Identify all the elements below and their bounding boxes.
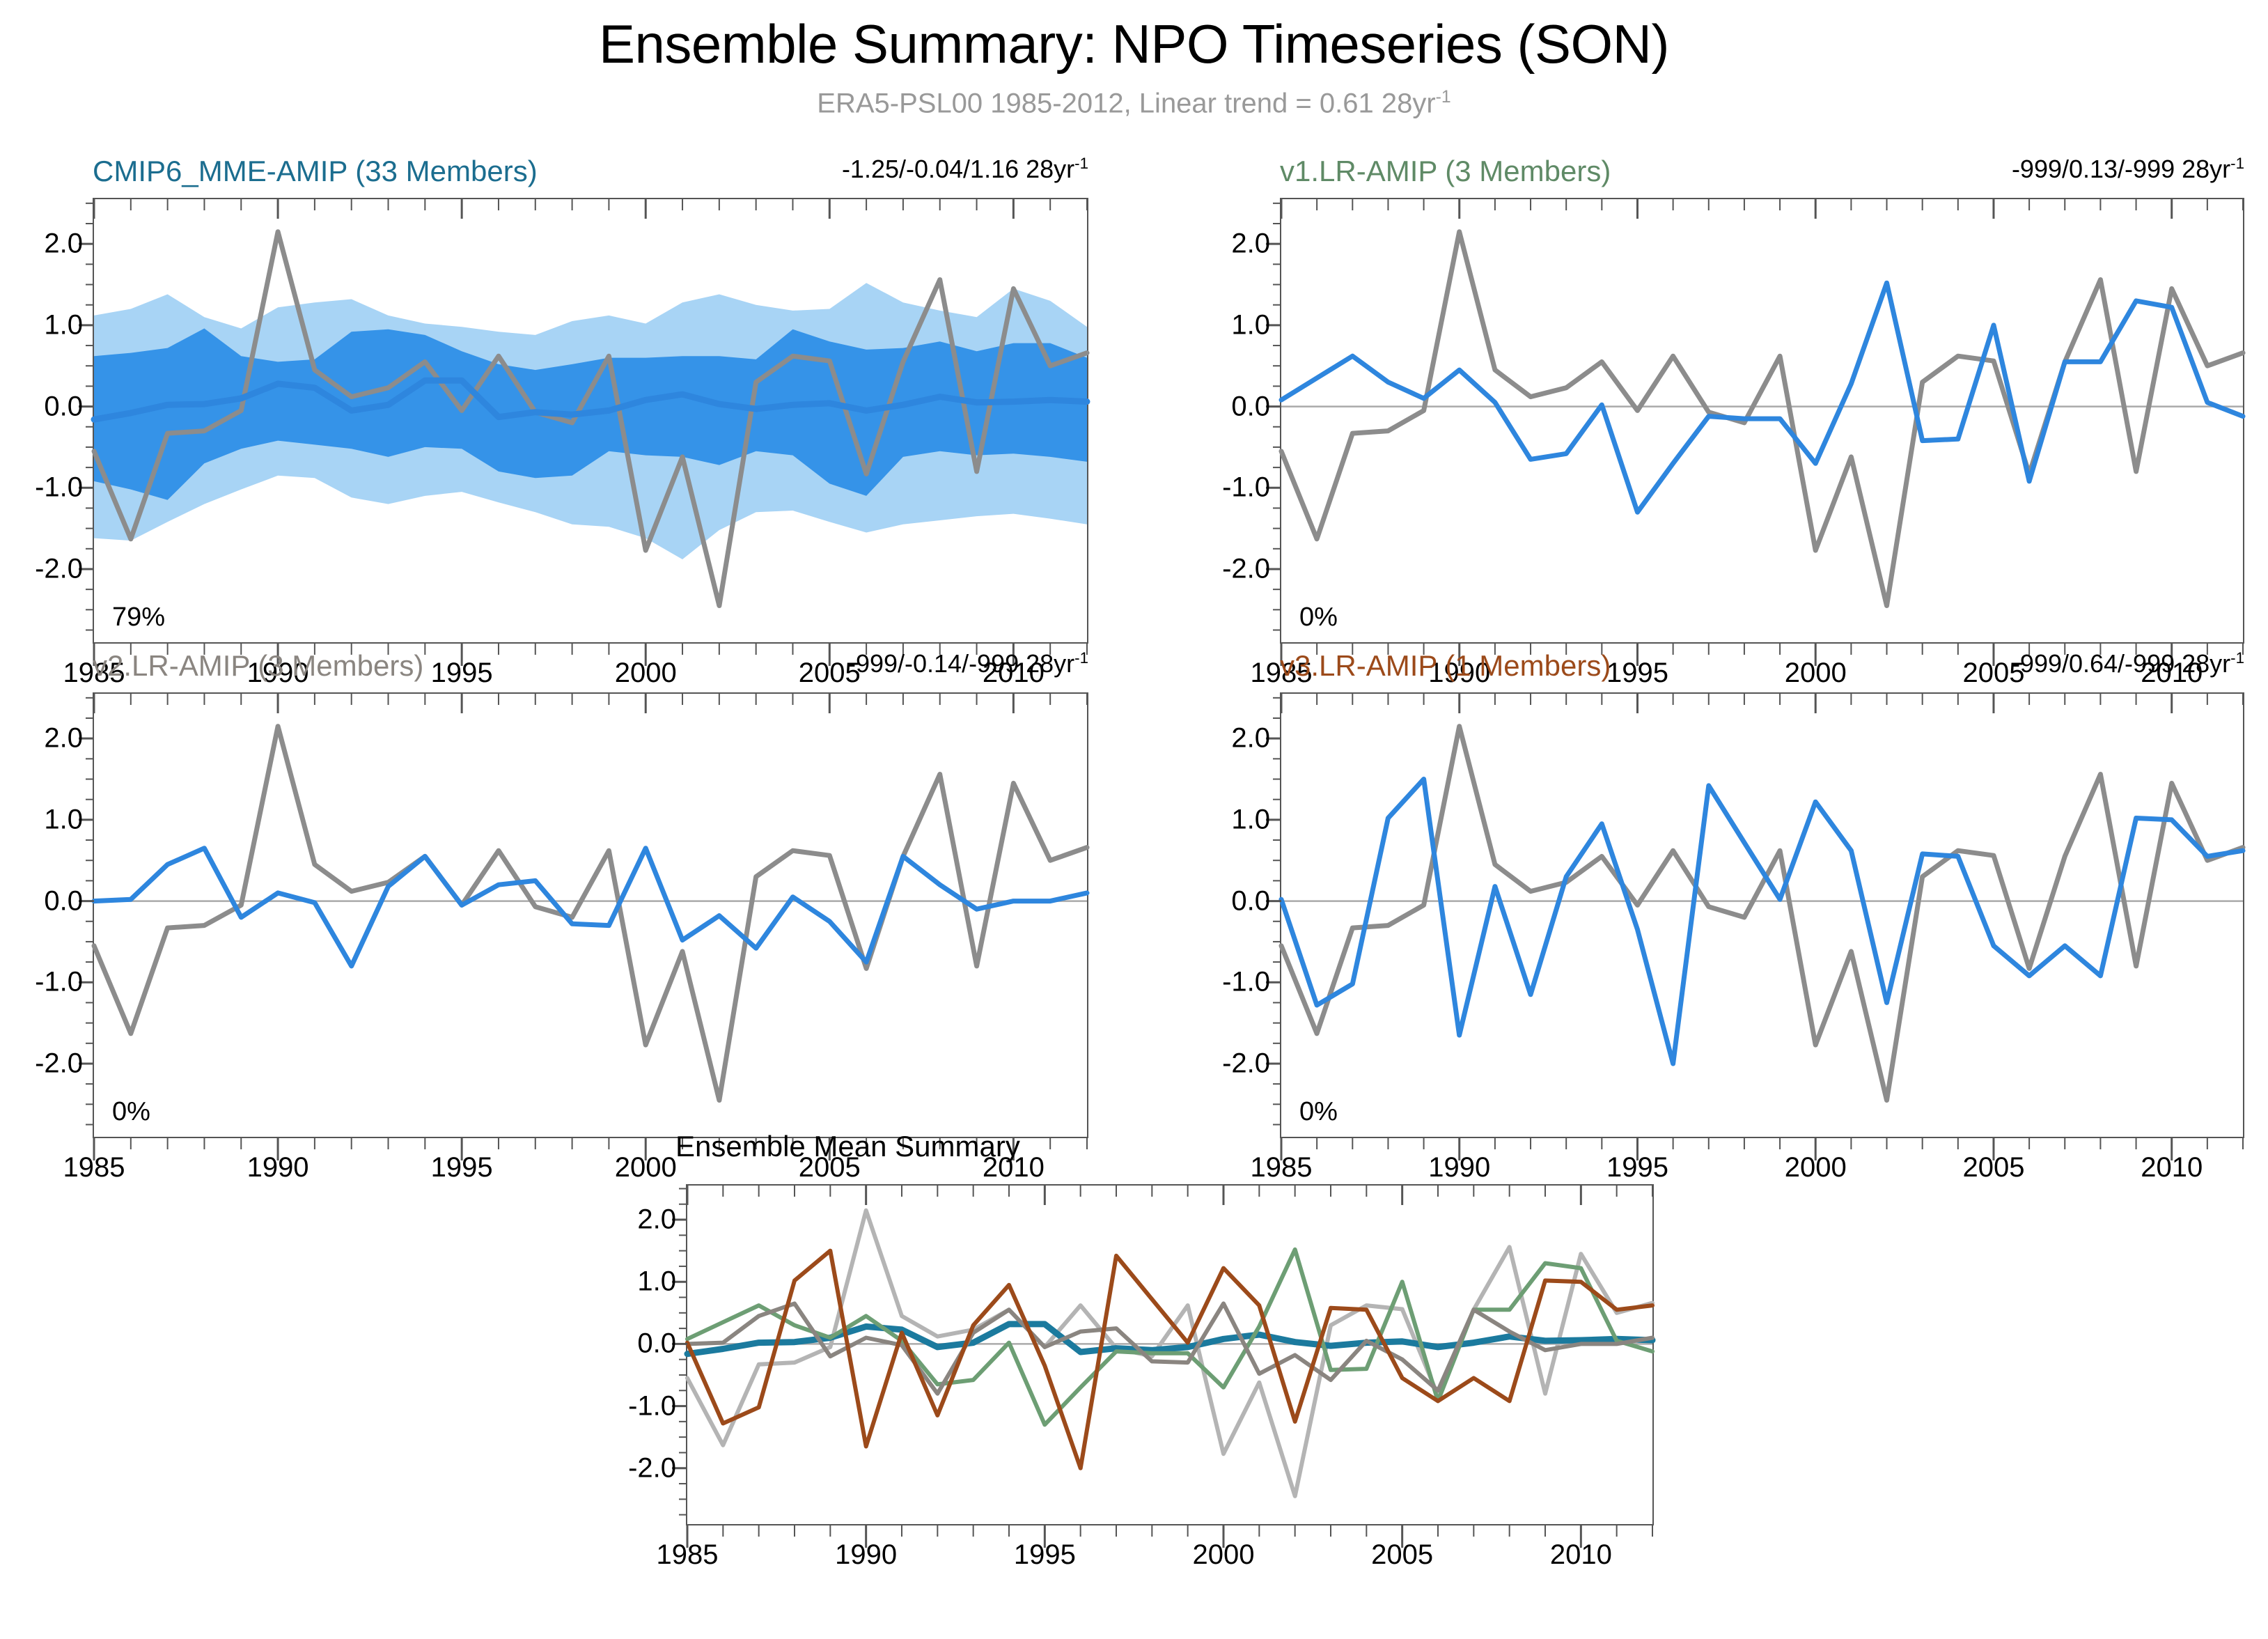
trend-exponent: -1: [2230, 649, 2244, 667]
y-axis-tick-label: 2.0: [44, 228, 83, 260]
trend-text: -999/0.64/-999 28yr: [2012, 649, 2230, 678]
panel-header-v3: v3.LR-AMIP (1 Members)-999/0.64/-999 28y…: [1280, 649, 2244, 685]
x-axis-tick-label: 2010: [2141, 1152, 2203, 1183]
plot-canvas: [1281, 199, 2243, 642]
subtitle-text: ERA5-PSL00 1985-2012, Linear trend = 0.6…: [817, 88, 1435, 118]
panel-title-cmip6: CMIP6_MME-AMIP (33 Members): [93, 155, 538, 188]
x-axis-tick-label: 1995: [431, 1152, 493, 1183]
y-axis-tick-label: 2.0: [44, 723, 83, 754]
significance-percent-v1: 0%: [1299, 603, 1338, 632]
y-axis-tick-label: 1.0: [1231, 309, 1270, 341]
x-axis-tick-label: 1985: [657, 1539, 719, 1571]
plot-canvas: [94, 199, 1087, 642]
significance-percent-v2: 0%: [112, 1097, 150, 1127]
figure-title: Ensemble Summary: NPO Timeseries (SON): [0, 13, 2268, 76]
y-axis-tick-label: 2.0: [637, 1204, 676, 1236]
y-axis-tick-label: 0.0: [637, 1328, 676, 1360]
y-axis-tick-label: -1.0: [35, 472, 83, 504]
y-axis-tick-label: -2.0: [1222, 1048, 1270, 1079]
y-axis-tick-label: -1.0: [35, 967, 83, 998]
y-axis-tick-label: 0.0: [1231, 885, 1270, 917]
y-axis-tick-label: 1.0: [1231, 804, 1270, 835]
x-axis-tick-label: 2005: [1371, 1539, 1433, 1571]
y-axis-tick-label: -2.0: [35, 1048, 83, 1079]
x-axis-tick-label: 2000: [1785, 1152, 1847, 1183]
x-axis-tick-label: 1985: [1251, 1152, 1313, 1183]
y-axis-tick-label: 2.0: [1231, 723, 1270, 754]
plot-canvas: [687, 1186, 1652, 1524]
panel-trend-cmip6: -1.25/-0.04/1.16 28yr-1: [842, 155, 1088, 184]
plot-area-cmip6[interactable]: 2.01.00.0-1.0-2.019851990199520002005201…: [93, 198, 1088, 644]
x-axis-tick-label: 1990: [1428, 1152, 1490, 1183]
y-axis-tick-label: -2.0: [35, 553, 83, 584]
panel-header-cmip6: CMIP6_MME-AMIP (33 Members)-1.25/-0.04/1…: [93, 155, 1088, 191]
significance-percent-cmip6: 79%: [112, 603, 165, 632]
ensemble-mean-line: [1281, 779, 2243, 1064]
x-axis-tick-label: 1995: [1014, 1539, 1076, 1571]
panel-trend-v2: -999/-0.14/-999 28yr-1: [847, 649, 1088, 678]
panel-title-v2: v2.LR-AMIP (3 Members): [93, 649, 423, 683]
y-axis-tick-label: 1.0: [44, 804, 83, 835]
y-axis-tick-label: 0.0: [44, 391, 83, 422]
plot-area-v3[interactable]: 2.01.00.0-1.0-2.019851990199520002005201…: [1280, 692, 2244, 1138]
y-axis-tick-label: 2.0: [1231, 228, 1270, 260]
y-axis-tick-label: 1.0: [44, 309, 83, 341]
plot-area-v2[interactable]: 2.01.00.0-1.0-2.019851990199520002005201…: [93, 692, 1088, 1138]
x-axis-tick-label: 1995: [1606, 1152, 1668, 1183]
y-axis-tick-label: 1.0: [637, 1266, 676, 1298]
panel-title-v3: v3.LR-AMIP (1 Members): [1280, 649, 1611, 683]
significance-percent-v3: 0%: [1299, 1097, 1338, 1127]
x-axis-tick-label: 2000: [1193, 1539, 1255, 1571]
plot-canvas: [1281, 694, 2243, 1137]
ensemble-mean-line: [94, 848, 1087, 966]
bottom-panel-title: Ensemble Mean Summary: [675, 1130, 1020, 1163]
trend-text: -1.25/-0.04/1.16 28yr: [842, 155, 1074, 183]
plot-area-v1[interactable]: 2.01.00.0-1.0-2.019851990199520002005201…: [1280, 198, 2244, 644]
trend-text: -999/0.13/-999 28yr: [2012, 155, 2230, 183]
plot-area-ensemble-mean-summary[interactable]: 2.01.00.0-1.0-2.019851990199520002005201…: [686, 1184, 1654, 1525]
trend-text: -999/-0.14/-999 28yr: [847, 649, 1074, 678]
trend-exponent: -1: [2230, 155, 2244, 172]
y-axis-tick-label: -1.0: [1222, 472, 1270, 504]
panel-header-v1: v1.LR-AMIP (3 Members)-999/0.13/-999 28y…: [1280, 155, 2244, 191]
y-axis-tick-label: -2.0: [628, 1452, 676, 1484]
trend-exponent: -1: [1074, 155, 1088, 172]
trend-exponent: -1: [1074, 649, 1088, 667]
panel-trend-v1: -999/0.13/-999 28yr-1: [2012, 155, 2244, 184]
y-axis-tick-label: -1.0: [628, 1390, 676, 1422]
x-axis-tick-label: 2000: [615, 1152, 677, 1183]
ensemble-mean-line: [1281, 283, 2243, 512]
plot-canvas: [94, 694, 1087, 1137]
y-axis-tick-label: -2.0: [1222, 553, 1270, 584]
summary-line-4: [687, 1251, 1652, 1468]
panel-header-v2: v2.LR-AMIP (3 Members)-999/-0.14/-999 28…: [93, 649, 1088, 685]
x-axis-tick-label: 1985: [63, 1152, 125, 1183]
x-axis-tick-label: 1990: [835, 1539, 897, 1571]
x-axis-tick-label: 2010: [1550, 1539, 1612, 1571]
panel-title-v1: v1.LR-AMIP (3 Members): [1280, 155, 1611, 188]
x-axis-tick-label: 2005: [1962, 1152, 2024, 1183]
y-axis-tick-label: 0.0: [44, 885, 83, 917]
y-axis-tick-label: -1.0: [1222, 967, 1270, 998]
panel-trend-v3: -999/0.64/-999 28yr-1: [2012, 649, 2244, 678]
subtitle-exponent: -1: [1436, 88, 1451, 107]
y-axis-tick-label: 0.0: [1231, 391, 1270, 422]
x-axis-tick-label: 1990: [247, 1152, 309, 1183]
figure-subtitle: ERA5-PSL00 1985-2012, Linear trend = 0.6…: [0, 88, 2268, 119]
